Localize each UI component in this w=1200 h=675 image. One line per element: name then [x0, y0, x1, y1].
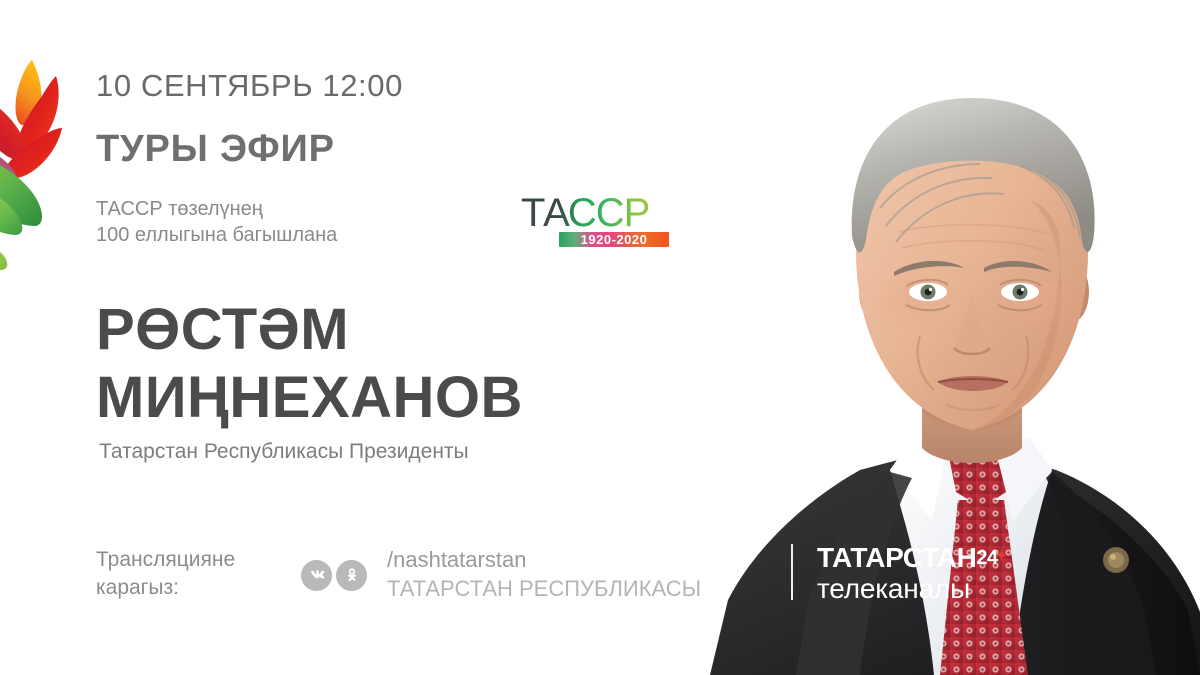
social-handle[interactable]: /nashtatarstan — [387, 545, 701, 574]
taccp-years-label: 1920-2020 — [561, 232, 667, 247]
channel-branding: ТАТАРСТАН24✦ телеканалы — [791, 540, 1007, 604]
broadcast-footer: Трансляцияне карагыз: /nashtatarstan ТАТ… — [96, 538, 796, 610]
channel-subtitle: телеканалы — [817, 573, 1007, 605]
person-title: Татарстан Республикасы Президенты — [99, 440, 469, 464]
live-broadcast-title: ТУРЫ ЭФИР — [96, 128, 335, 171]
ok-icon[interactable] — [336, 560, 367, 591]
taccp-wordmark: ТАССР — [521, 192, 669, 234]
taccp-anniversary-logo: ТАССР 1920-2020 — [521, 192, 669, 250]
social-icons-group — [301, 560, 367, 591]
brand-text-block: ТАТАРСТАН24✦ телеканалы — [817, 540, 1007, 605]
live-broadcast-poster: 10 СЕНТЯБРЬ 12:00 ТУРЫ ЭФИР ТАССР төзелү… — [0, 0, 1200, 675]
watch-label: Трансляцияне карагыз: — [96, 546, 301, 602]
channel-name: ТАТАРСТАН — [817, 542, 976, 573]
social-handle-block: /nashtatarstan ТАТАРСТАН РЕСПУБЛИКАСЫ — [387, 545, 701, 603]
broadcast-date-time: 10 СЕНТЯБРЬ 12:00 — [96, 68, 403, 104]
dedication-text: ТАССР төзелүнең 100 еллыгына багышлана — [96, 196, 337, 248]
tulip-flower-logo — [0, 36, 98, 274]
brand-divider — [791, 544, 793, 600]
person-name: РӨСТӘМ МИҢНЕХАНОВ — [96, 296, 523, 432]
channel-spark-icon: ✦ — [996, 547, 1007, 563]
channel-name-line: ТАТАРСТАН24✦ — [817, 540, 1007, 573]
channel-number: 24 — [976, 547, 997, 569]
vk-icon[interactable] — [301, 560, 332, 591]
social-handle-secondary: ТАТАРСТАН РЕСПУБЛИКАСЫ — [387, 574, 701, 603]
